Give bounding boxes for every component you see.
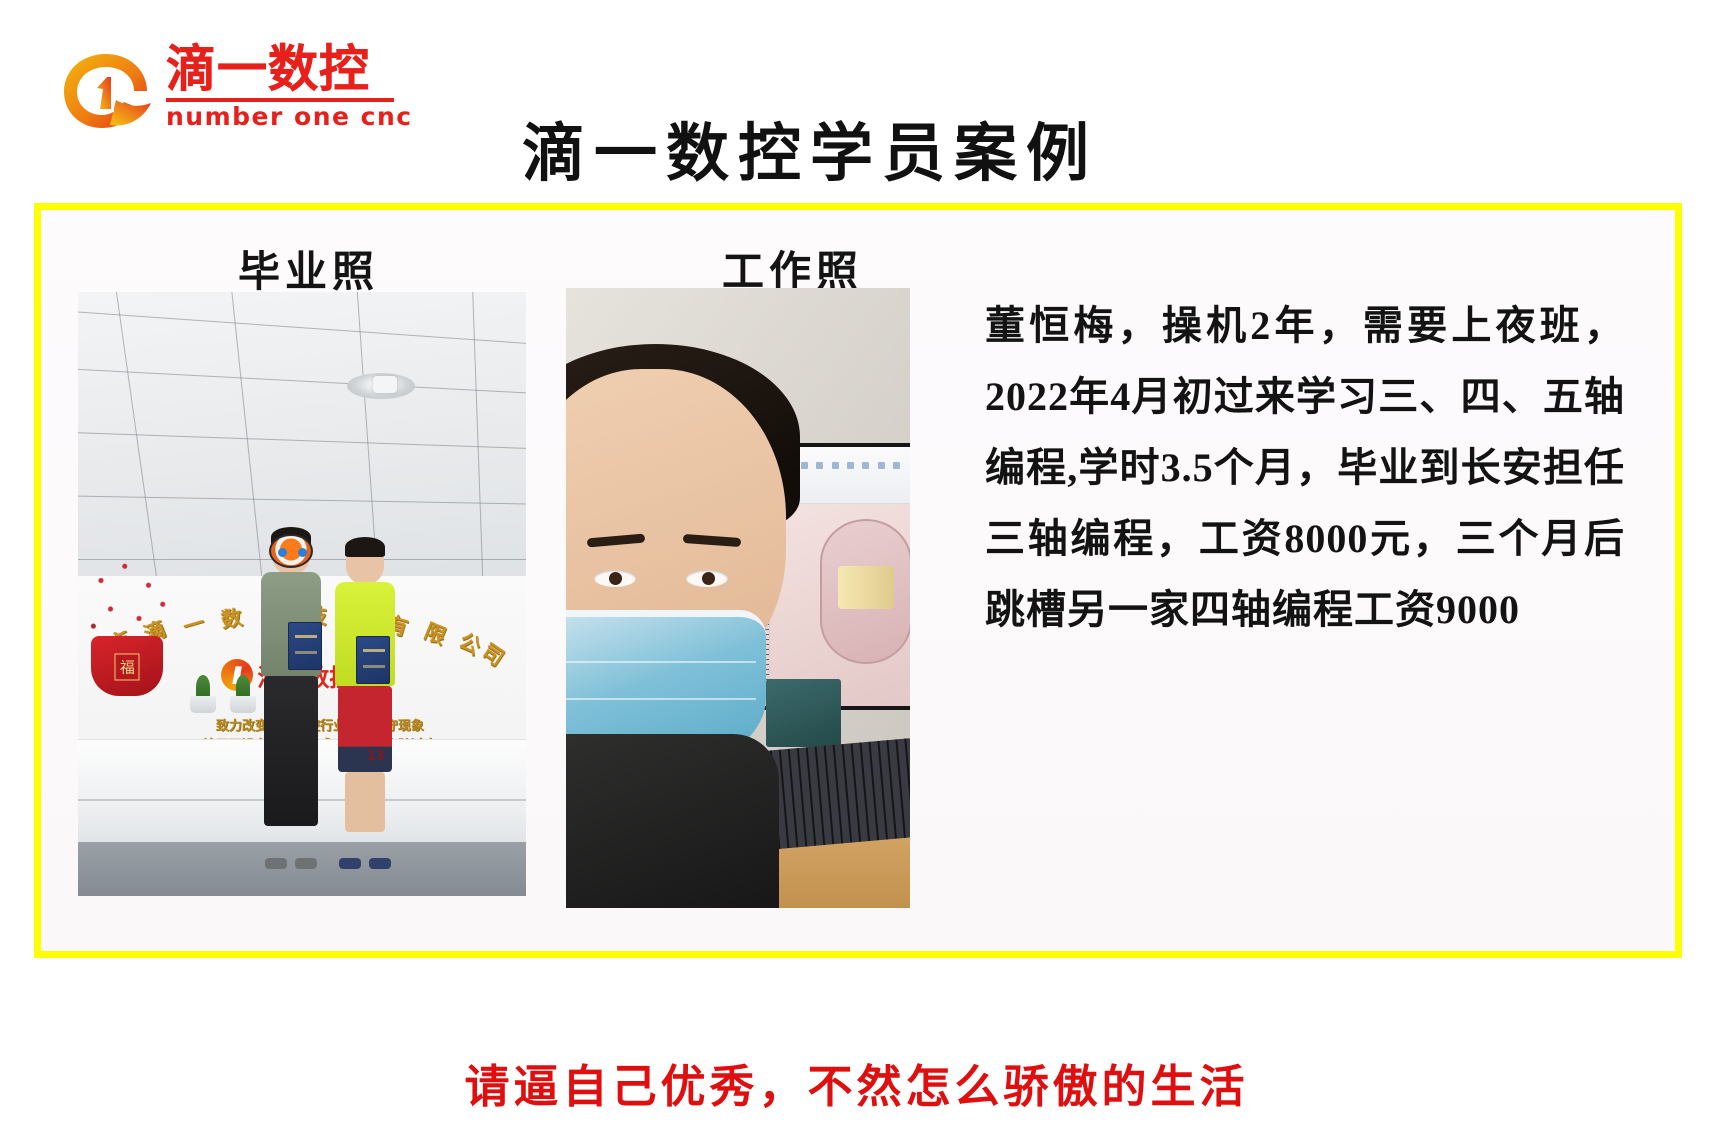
work-photo bbox=[566, 288, 910, 908]
graduation-photo: 市 滴 一 数 控 技 术 有 限 公 司 滴一数控 致力改变中国数控行业技术保… bbox=[78, 292, 526, 896]
graduate-person-left bbox=[257, 530, 325, 860]
student-story: 董恒梅，操机2年，需要上夜班，2022年4月初过来学习三、四、五轴编程,学时3.… bbox=[985, 290, 1625, 645]
face-sticker-icon bbox=[269, 534, 313, 568]
person-torso bbox=[566, 734, 779, 908]
certificate-right bbox=[356, 636, 390, 684]
eye-left bbox=[594, 570, 636, 587]
company-logo: 滴一数控 number one cnc bbox=[58, 38, 388, 148]
droplet-one-logo-icon bbox=[58, 50, 154, 136]
ceiling-light-icon bbox=[347, 373, 415, 399]
graduate-person-right bbox=[329, 540, 401, 860]
potted-plant-1 bbox=[190, 679, 216, 713]
red-vase bbox=[91, 636, 163, 696]
footer-slogan: 请逼自己优秀，不然怎么骄傲的生活 bbox=[0, 1050, 1713, 1115]
page-title: 滴一数控学员案例 bbox=[440, 103, 1180, 194]
logo-english-name: number one cnc bbox=[166, 104, 396, 129]
logo-text: 滴一数控 number one cnc bbox=[166, 44, 396, 129]
decorative-branches bbox=[82, 552, 177, 647]
cad-part-model bbox=[820, 519, 910, 664]
certificate-left bbox=[288, 622, 322, 670]
graduation-photo-label: 毕业照 bbox=[238, 238, 379, 299]
student-story-paragraph: 董恒梅，操机2年，需要上夜班，2022年4月初过来学习三、四、五轴编程,学时3.… bbox=[985, 290, 1625, 645]
desk-object bbox=[766, 679, 842, 747]
potted-plant-2 bbox=[230, 679, 256, 713]
slide-canvas: 滴一数控 number one cnc 滴一数控学员案例 毕业照 工作照 市 滴… bbox=[0, 0, 1713, 1132]
logo-chinese-name: 滴一数控 bbox=[166, 44, 396, 95]
